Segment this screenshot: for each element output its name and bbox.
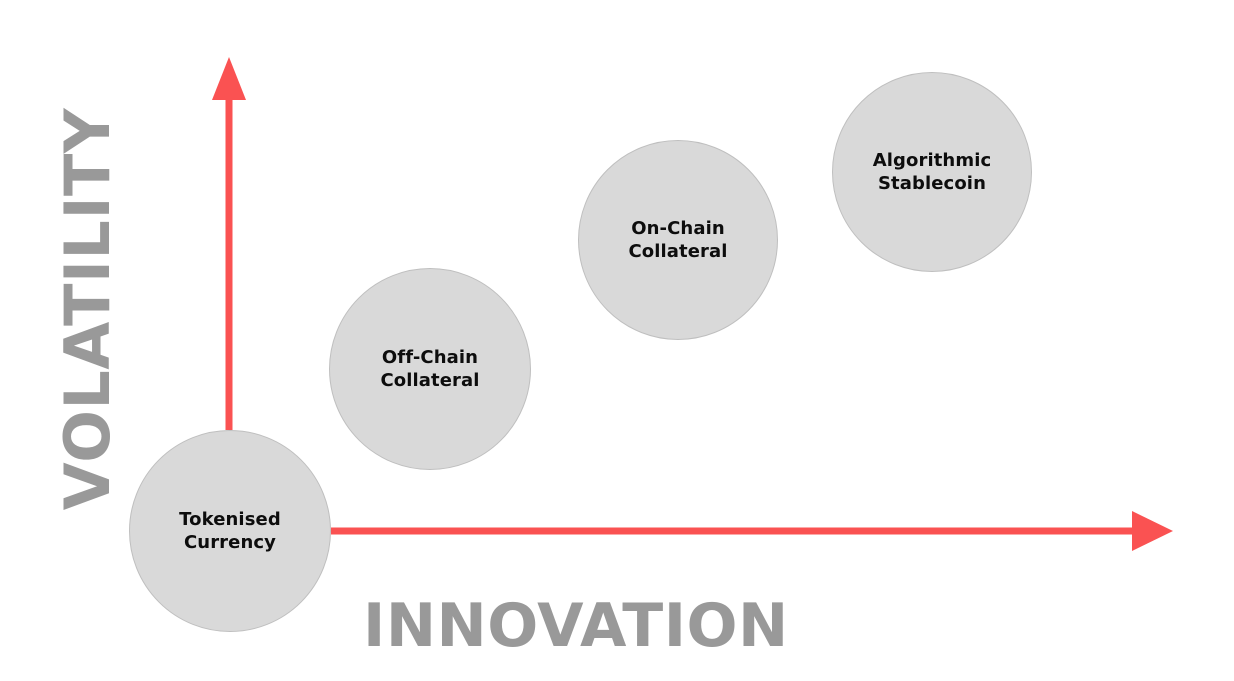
diagram-canvas: VOLATILITY INNOVATION Tokenised Currency…: [0, 0, 1234, 681]
x-axis-title: INNOVATION: [363, 596, 789, 656]
bubble-label: Off-Chain Collateral: [380, 346, 479, 393]
bubble-algorithmic-stablecoin[interactable]: Algorithmic Stablecoin: [832, 72, 1032, 272]
y-axis-arrow: [212, 57, 246, 430]
bubble-label: Algorithmic Stablecoin: [873, 149, 992, 196]
arrow-right-icon: [1132, 511, 1173, 551]
x-axis-arrow: [331, 511, 1173, 551]
bubble-on-chain-collateral[interactable]: On-Chain Collateral: [578, 140, 778, 340]
bubble-label: Tokenised Currency: [179, 508, 281, 555]
arrow-up-icon: [212, 57, 246, 100]
bubble-tokenised-currency[interactable]: Tokenised Currency: [129, 430, 331, 632]
bubble-label: On-Chain Collateral: [628, 217, 727, 264]
bubble-off-chain-collateral[interactable]: Off-Chain Collateral: [329, 268, 531, 470]
y-axis-title: VOLATILITY: [57, 49, 119, 569]
